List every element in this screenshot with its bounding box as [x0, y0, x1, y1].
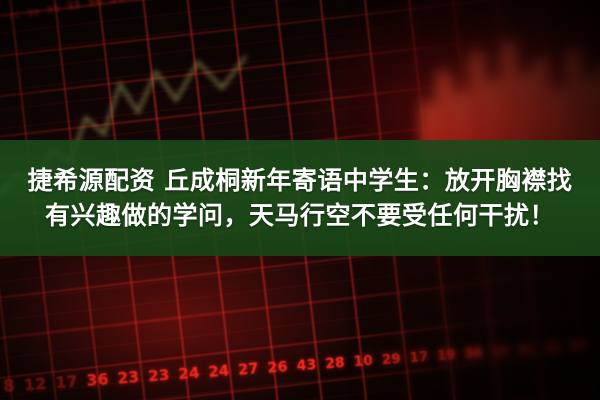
screenshot-canvas: 42383533363838393831302726 8121736232324… — [0, 0, 600, 400]
headline-banner: 捷希源配资 丘成桐新年寄语中学生：放开胸襟找 有兴趣做的学问，天马行空不要受任何… — [0, 140, 600, 256]
headline-line-2: 有兴趣做的学问，天马行空不要受任何干扰！ — [45, 200, 555, 232]
bokeh-candle-cluster — [422, 38, 600, 156]
headline-line-1: 捷希源配资 丘成桐新年寄语中学生：放开胸襟找 — [28, 165, 573, 197]
